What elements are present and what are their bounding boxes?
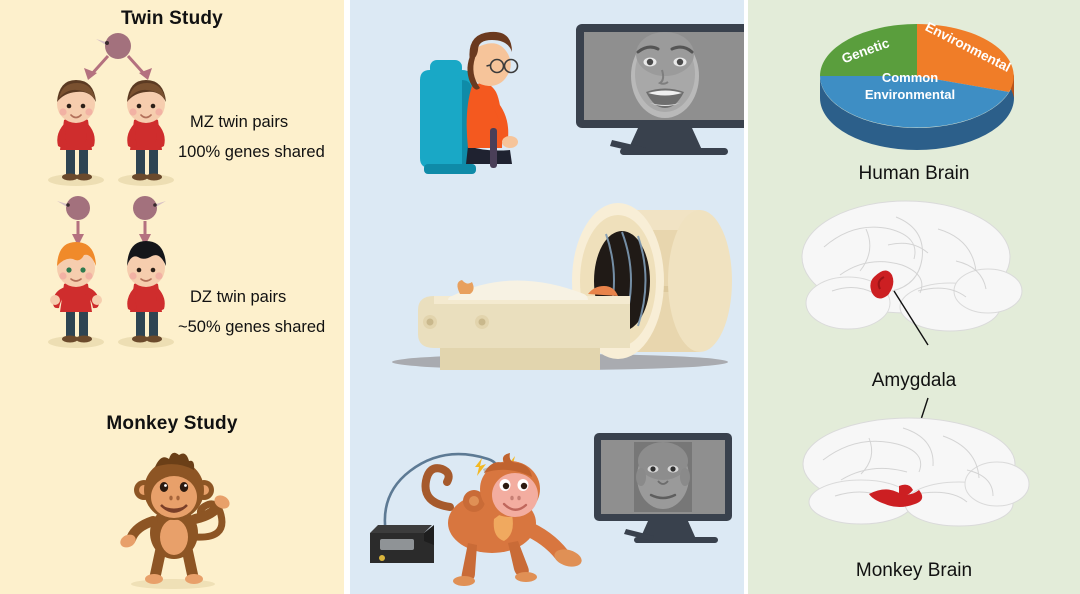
mz-twin-label-line2: 100% genes shared [178, 143, 325, 162]
mri-scanner-illustration [360, 190, 740, 375]
panel-brain: Genetic Environmental Common Environment… [748, 0, 1080, 594]
monkey-study-title: Monkey Study [0, 413, 344, 435]
figure-root: Twin Study [0, 0, 1080, 594]
pie-label-common-line1: Common [882, 70, 938, 85]
mz-twin-illustration [18, 28, 218, 188]
mz-twin-label-line1: MZ twin pairs [190, 113, 288, 132]
human-viewing-face-stimulus [380, 8, 740, 188]
twin-study-title: Twin Study [0, 8, 344, 30]
cartoon-monkey-illustration [95, 445, 255, 590]
heritability-pie-chart: Genetic Environmental Common Environment… [810, 6, 1025, 146]
monkey-electrophysiology-illustration [358, 415, 736, 587]
pie-label-common-line2: Environmental [865, 87, 955, 102]
monkey-brain-illustration [783, 398, 1043, 558]
panel-twin-study: Twin Study [0, 0, 344, 594]
dz-twin-label-line1: DZ twin pairs [190, 288, 286, 307]
human-brain-label: Human Brain [748, 163, 1080, 185]
human-brain-illustration [788, 195, 1038, 345]
monkey-brain-label: Monkey Brain [748, 560, 1080, 582]
panel-methods [350, 0, 744, 594]
amygdala-label: Amygdala [748, 370, 1080, 392]
dz-twin-label-line2: ~50% genes shared [178, 318, 325, 337]
